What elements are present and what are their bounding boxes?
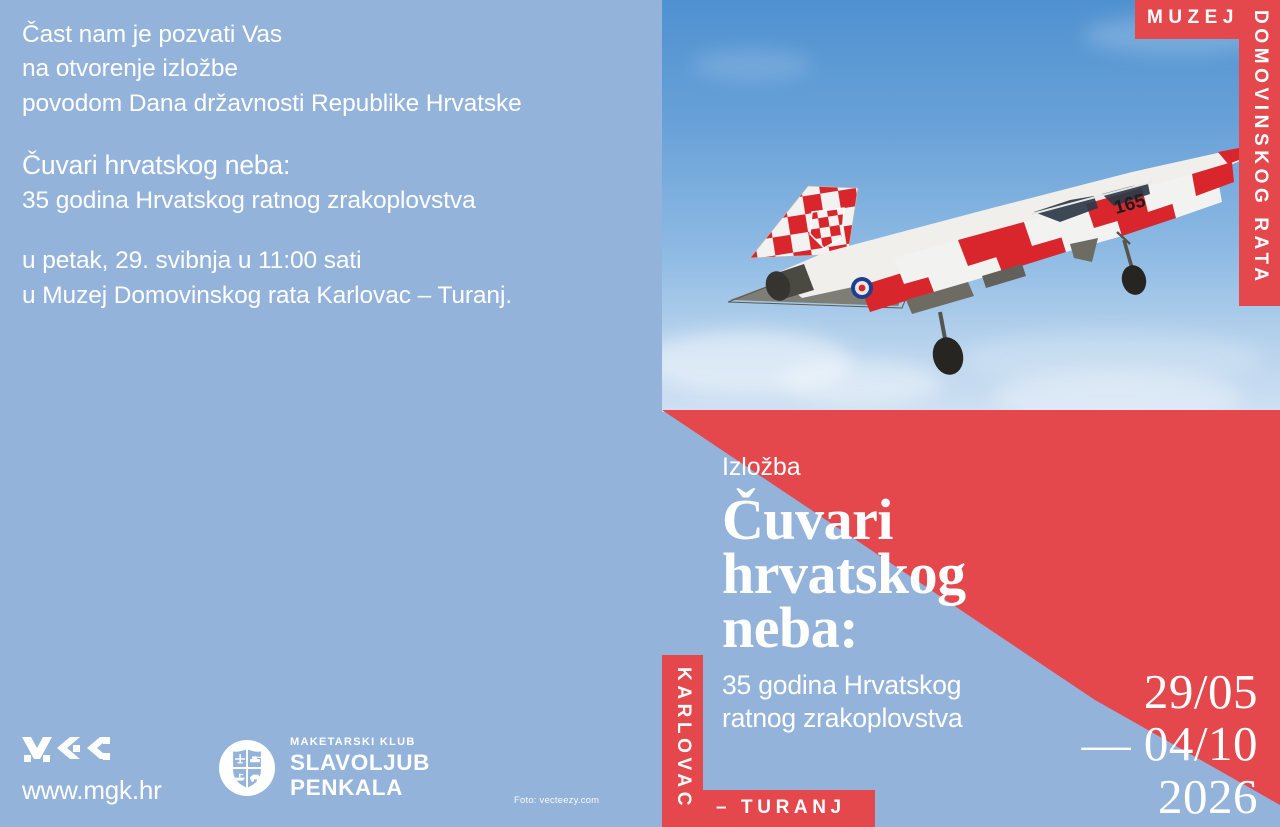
exhibition-title-line-1: Čuvari [722,493,1142,547]
museum-banner-side-label: DOMOVINSKOG RATA [1249,10,1271,286]
club-name-line-1: MAKETARSKI KLUB [290,737,430,748]
club-name-line-2: SLAVOLJUB [290,752,430,775]
date-end: — 04/10 [958,718,1258,770]
club-name-line-3: PENKALA [290,777,430,800]
invitation-subtitle: 35 godina Hrvatskog ratnog zrakoplovstva [22,184,642,218]
exhibition-title-line-2: hrvatskog [722,547,1142,601]
location-tab-city-label: KARLOVAC [672,667,694,810]
location-tab-district-label: – TURANJ [716,797,846,819]
museum-banner-side: DOMOVINSKOG RATA [1239,0,1280,306]
mgk-logo-block[interactable]: www.mgk.hr [22,735,162,806]
mig-21-jet-illustration: 165 [662,0,1280,412]
club-wordmark: MAKETARSKI KLUB SLAVOLJUB PENKALA [290,737,430,799]
date-start: 29/05 [958,666,1258,718]
location-tab-vertical: KARLOVAC [662,655,703,827]
photo-credit: Foto: vecteezy.com [514,795,599,806]
museum-banner-top-label: MUZEJ [1147,7,1239,29]
exhibition-kicker: Izložba [722,452,1142,483]
invitation-line-3: povodom Dana državnosti Republike Hrvats… [22,87,642,121]
invitation-intro: Čast nam je pozvati Vas na otvorenje izl… [22,18,642,121]
mgk-wordmark-icon [22,735,130,765]
exhibition-title-line-3: neba: [722,601,1142,655]
exhibition-dates: 29/05 — 04/10 2026 [958,666,1258,823]
exhibition-title: Čuvari hrvatskog neba: [722,493,1142,655]
invitation-venue: u Muzej Domovinskog rata Karlovac – Tura… [22,279,642,313]
date-year: 2026 [958,771,1258,823]
club-shield-badge-icon [218,739,276,797]
invitation-exhibition-name: Čuvari hrvatskog neba: 35 godina Hrvatsk… [22,147,642,218]
invitation-line-1: Čast nam je pozvati Vas [22,18,642,52]
mig-21-svg: 165 [662,0,1280,412]
invitation-line-2: na otvorenje izložbe [22,52,642,86]
invitation-text-block: Čast nam je pozvati Vas na otvorenje izl… [22,18,642,339]
maketarski-klub-logo-block[interactable]: MAKETARSKI KLUB SLAVOLJUB PENKALA [218,737,430,799]
mgk-website-url[interactable]: www.mgk.hr [22,775,162,806]
invitation-title: Čuvari hrvatskog neba: [22,147,642,184]
invitation-when-where: u petak, 29. svibnja u 11:00 sati u Muze… [22,244,642,313]
location-tab-horizontal: – TURANJ [703,790,875,827]
poster-canvas: Čast nam je pozvati Vas na otvorenje izl… [0,0,1280,827]
invitation-datetime: u petak, 29. svibnja u 11:00 sati [22,244,642,278]
aircraft-photo: 165 [662,0,1280,412]
